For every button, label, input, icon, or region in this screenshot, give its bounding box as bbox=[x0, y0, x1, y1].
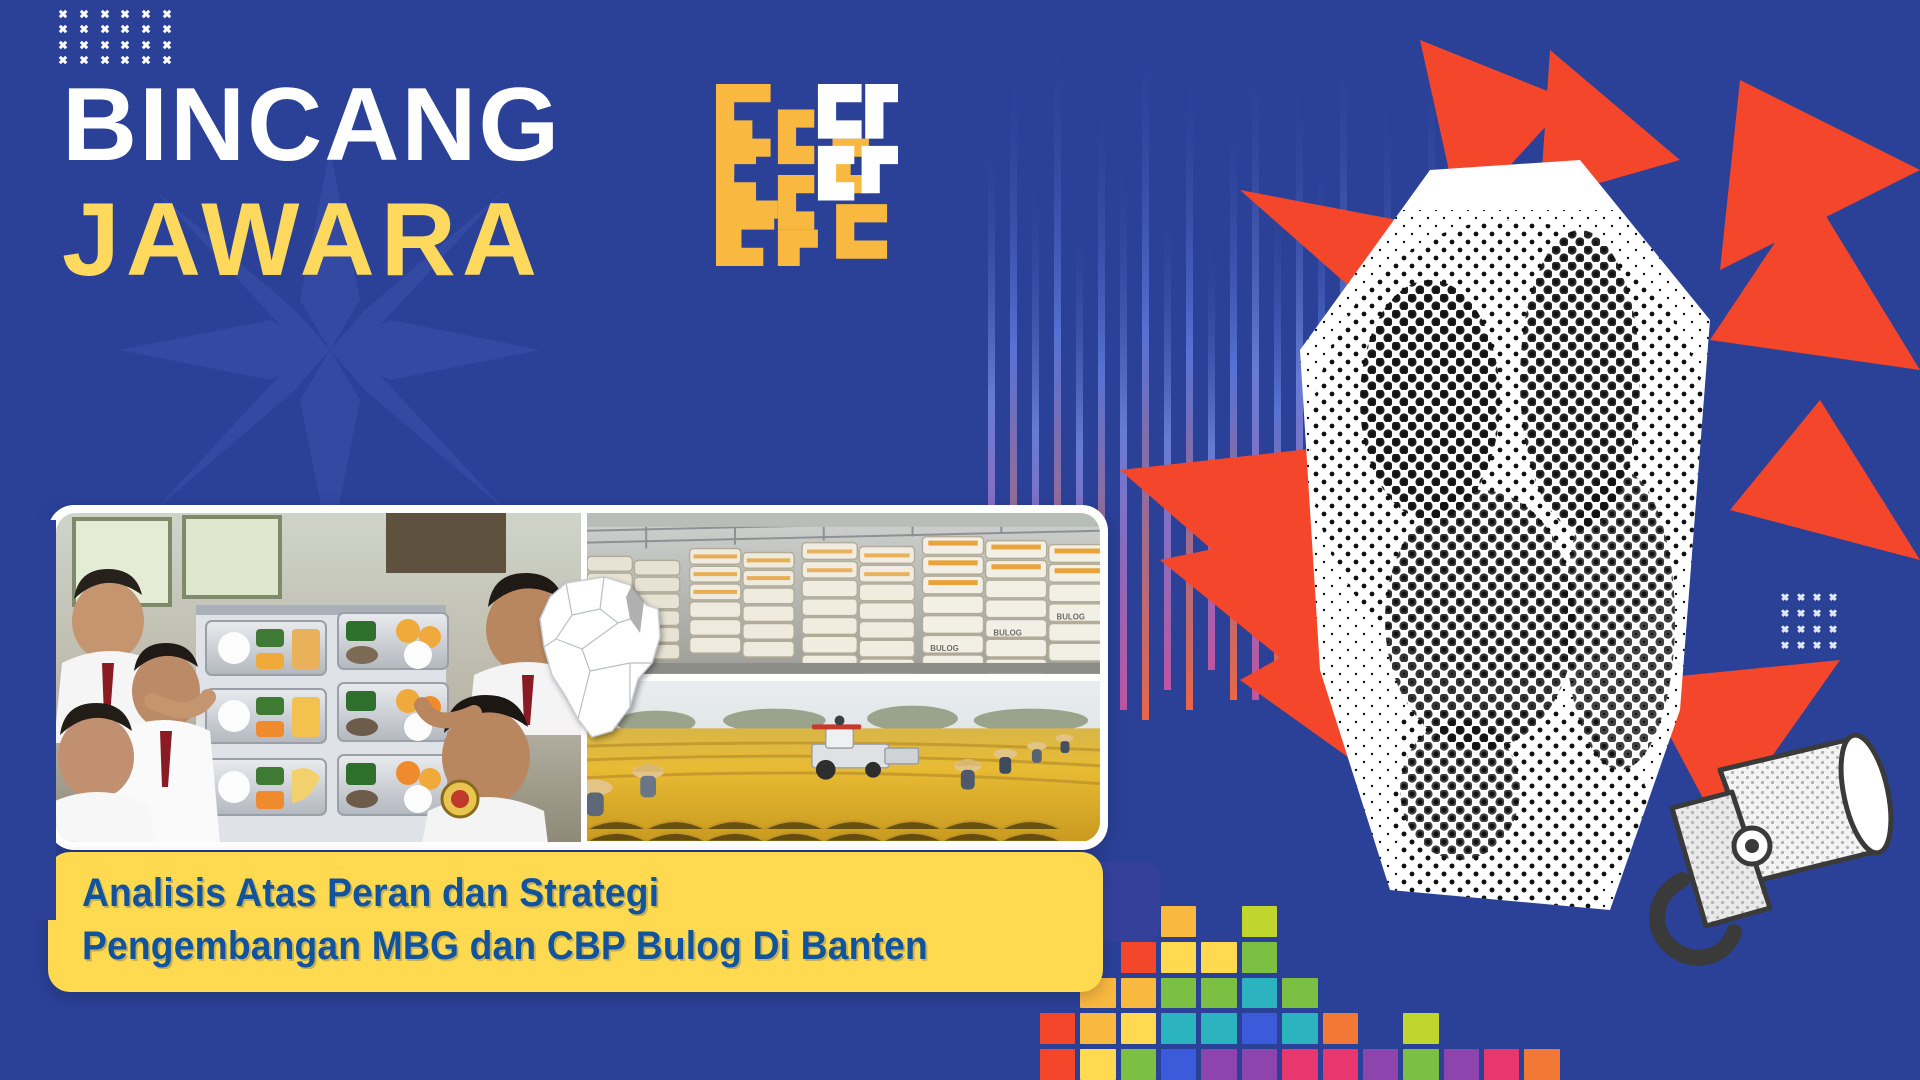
title-line-bincang: BINCANG bbox=[62, 76, 762, 175]
cross-dot-grid-icon bbox=[55, 8, 175, 66]
cross-dot-grid-small-icon bbox=[1778, 590, 1840, 652]
svg-text:BULOG: BULOG bbox=[993, 628, 1021, 637]
svg-text:BULOG: BULOG bbox=[1057, 613, 1085, 622]
left-edge-stripe bbox=[0, 520, 56, 920]
title-line-jawara: JAWARA bbox=[62, 187, 762, 293]
svg-text:BULOG: BULOG bbox=[930, 644, 958, 653]
banten-province-map-overlay bbox=[526, 575, 676, 740]
poster-canvas: BINCANG JAWARA bbox=[0, 0, 1920, 1080]
caption-line-2: Pengembangan MBG dan CBP Bulog Di Banten bbox=[82, 923, 1000, 970]
caption-line-1: Analisis Atas Peran dan Strategi bbox=[82, 870, 1000, 917]
megaphone-icon bbox=[1610, 730, 1900, 1020]
bincang-jawara-logo-icon bbox=[712, 84, 902, 266]
episode-caption-banner: Analisis Atas Peran dan Strategi Pengemb… bbox=[48, 852, 1103, 992]
program-title: BINCANG JAWARA bbox=[62, 76, 762, 293]
halftone-microphone-graphic bbox=[1280, 150, 1750, 930]
orange-starburst-shape bbox=[1120, 40, 1920, 860]
photo-collage-card: BULOG BULOG BULOG bbox=[48, 505, 1108, 850]
photo-students-eating bbox=[56, 513, 581, 842]
